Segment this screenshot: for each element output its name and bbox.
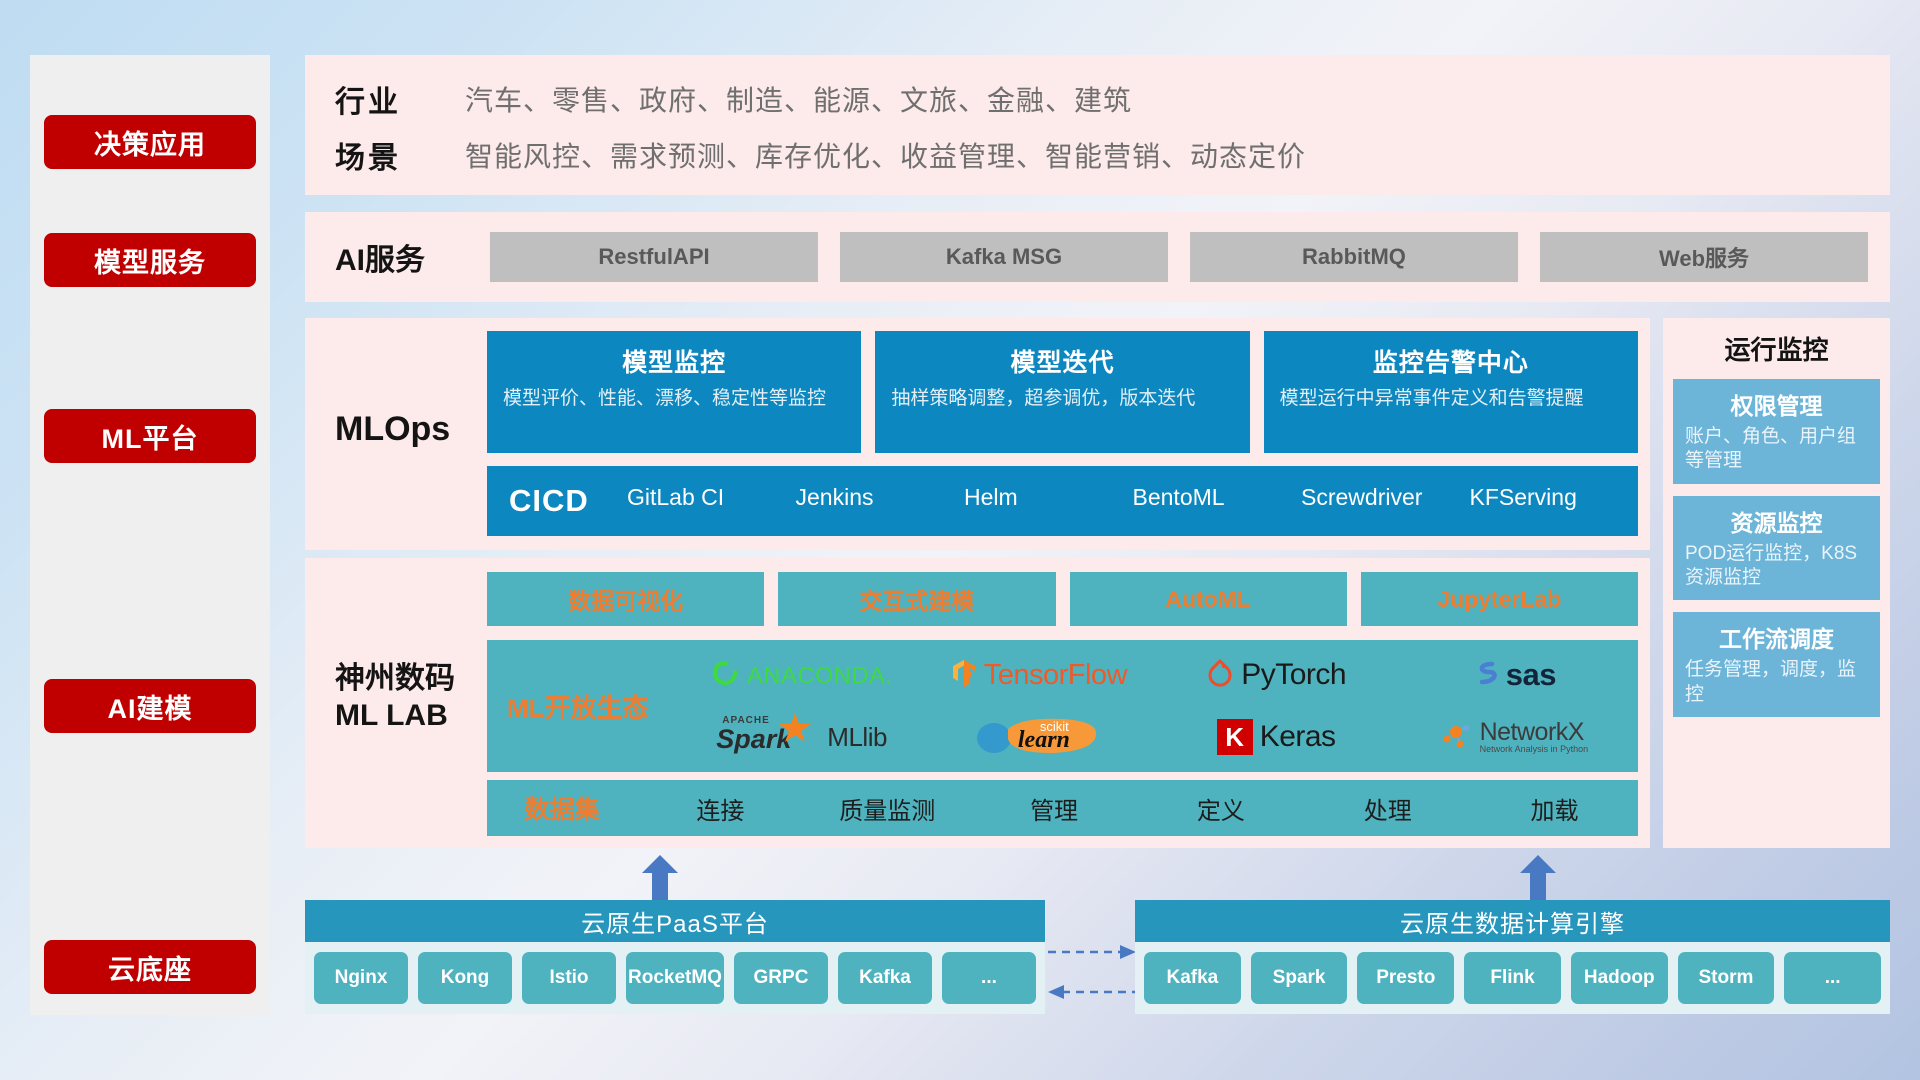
rail-item-label: 模型服务: [94, 241, 206, 280]
logo-keras-label: Keras: [1260, 720, 1336, 754]
ml-lab-label: 神州数码 ML LAB: [335, 661, 455, 734]
tool-chip-automl[interactable]: AutoML: [1070, 572, 1347, 626]
logo-sas: sas: [1471, 657, 1556, 693]
engine-chip-more[interactable]: ...: [1784, 952, 1881, 1004]
rail-item-cloud-base[interactable]: 云底座: [44, 940, 256, 994]
ml-ecosystem-box: ML开放生态 ANACONDA. TensorFlow: [487, 640, 1638, 772]
decision-apps-band: 行业 汽车、零售、政府、制造、能源、文旅、金融、建筑 场景 智能风控、需求预测、…: [305, 55, 1890, 195]
tool-chip-jupyterlab[interactable]: JupyterLab: [1361, 572, 1638, 626]
industry-row: 行业 汽车、零售、政府、制造、能源、文旅、金融、建筑: [335, 77, 1880, 121]
ai-service-chip-restfulapi[interactable]: RestfulAPI: [490, 232, 818, 282]
ai-service-chip-rabbitmq[interactable]: RabbitMQ: [1190, 232, 1518, 282]
rail-item-ml-platform[interactable]: ML平台: [44, 409, 256, 463]
cicd-item-jenkins[interactable]: Jenkins: [796, 484, 965, 518]
scenario-row: 场景 智能风控、需求预测、库存优化、收益管理、智能营销、动态定价: [335, 133, 1880, 177]
logo-pytorch: PyTorch: [1206, 658, 1346, 693]
industry-values: 汽车、零售、政府、制造、能源、文旅、金融、建筑: [465, 79, 1132, 119]
engine-chip-kafka[interactable]: Kafka: [1144, 952, 1241, 1004]
scenario-values: 智能风控、需求预测、库存优化、收益管理、智能营销、动态定价: [465, 135, 1306, 175]
cloud-engine-title: 云原生数据计算引擎: [1135, 900, 1890, 942]
cloud-engine-chip-group: Kafka Spark Presto Flink Hadoop Storm ..…: [1135, 942, 1890, 1014]
cicd-bar: CICD GitLab CI Jenkins Helm BentoML Scre…: [487, 466, 1638, 536]
scenario-label: 场景: [335, 133, 465, 177]
card-desc: 模型运行中异常事件定义和告警提醒: [1280, 387, 1622, 412]
bidirectional-link-icon: [1046, 940, 1138, 1010]
up-arrow-paas-icon: [640, 855, 680, 900]
dataset-item-process[interactable]: 处理: [1304, 791, 1471, 826]
dataset-item-group: 连接 质量监测 管理 定义 处理 加载: [637, 791, 1638, 826]
rail-item-model-service[interactable]: 模型服务: [44, 233, 256, 287]
networkx-icon: [1439, 719, 1473, 756]
ops-monitor-title: 运行监控: [1663, 318, 1890, 367]
cloud-chip-more[interactable]: ...: [942, 952, 1036, 1004]
cloud-chip-rocketmq[interactable]: RocketMQ: [626, 952, 724, 1004]
logo-pytorch-label: PyTorch: [1241, 658, 1346, 692]
ops-card-workflow-scheduling[interactable]: 工作流调度 任务管理，调度，监控: [1673, 612, 1880, 717]
engine-chip-hadoop[interactable]: Hadoop: [1571, 952, 1668, 1004]
dataset-item-manage[interactable]: 管理: [971, 791, 1138, 826]
rail-item-label: 云底座: [108, 948, 192, 987]
cicd-item-screwdriver[interactable]: Screwdriver: [1301, 484, 1470, 518]
logo-spark-mllib: APACHE Spark MLlib: [716, 716, 887, 758]
logo-learn-label: learn: [1018, 727, 1070, 754]
dataset-title: 数据集: [487, 790, 637, 826]
rail-item-label: 决策应用: [94, 123, 206, 162]
dataset-item-quality-monitor[interactable]: 质量监测: [804, 791, 971, 826]
rail-item-label: ML平台: [102, 417, 199, 456]
cloud-engine-group: 云原生数据计算引擎 Kafka Spark Presto Flink Hadoo…: [1135, 900, 1890, 1014]
card-title: 资源监控: [1685, 504, 1868, 538]
ops-card-permission-management[interactable]: 权限管理 账户、角色、用户组等管理: [1673, 379, 1880, 484]
logo-scikit-learn: scikit learn: [974, 715, 1104, 759]
logo-mllib-label: MLlib: [827, 722, 887, 753]
engine-chip-presto[interactable]: Presto: [1357, 952, 1454, 1004]
cloud-paas-chip-group: Nginx Kong Istio RocketMQ GRPC Kafka ...: [305, 942, 1045, 1014]
cicd-item-kfserving[interactable]: KFServing: [1470, 484, 1639, 518]
cicd-item-group: GitLab CI Jenkins Helm BentoML Screwdriv…: [627, 484, 1638, 518]
dataset-item-define[interactable]: 定义: [1137, 791, 1304, 826]
spark-icon: APACHE Spark: [716, 716, 820, 758]
engine-chip-storm[interactable]: Storm: [1678, 952, 1775, 1004]
dataset-bar: 数据集 连接 质量监测 管理 定义 处理 加载: [487, 780, 1638, 836]
rail-item-label: AI建模: [108, 687, 193, 726]
logo-keras: K Keras: [1217, 719, 1336, 755]
mlops-card-model-iteration[interactable]: 模型迭代 抽样策略调整，超参调优，版本迭代: [875, 331, 1249, 453]
mlops-band: MLOps 模型监控 模型评价、性能、漂移、稳定性等监控 模型迭代 抽样策略调整…: [305, 318, 1650, 550]
ml-lab-label-line1: 神州数码: [335, 661, 455, 698]
mlops-label: MLOps: [335, 410, 450, 449]
cicd-item-bentoml[interactable]: BentoML: [1133, 484, 1302, 518]
cloud-chip-kafka[interactable]: Kafka: [838, 952, 932, 1004]
mlops-card-model-monitoring[interactable]: 模型监控 模型评价、性能、漂移、稳定性等监控: [487, 331, 861, 453]
logo-networkx-label: NetworkX: [1480, 720, 1589, 745]
ops-monitor-band: 运行监控 权限管理 账户、角色、用户组等管理 资源监控 POD运行监控，K8S资…: [1663, 318, 1890, 848]
stack-layer-rail: 决策应用 模型服务 ML平台 AI建模 云底座: [30, 55, 270, 1015]
ai-service-label: AI服务: [335, 235, 490, 279]
cloud-chip-grpc[interactable]: GRPC: [734, 952, 828, 1004]
card-desc: 任务管理，调度，监控: [1685, 658, 1868, 707]
card-desc: 账户、角色、用户组等管理: [1685, 425, 1868, 474]
logo-anaconda: ANACONDA.: [710, 658, 893, 693]
anaconda-icon: [710, 658, 740, 693]
ml-lab-tool-group: 数据可视化 交互式建模 AutoML JupyterLab: [487, 572, 1638, 626]
ops-card-resource-monitoring[interactable]: 资源监控 POD运行监控，K8S资源监控: [1673, 496, 1880, 601]
rail-item-ai-modeling[interactable]: AI建模: [44, 679, 256, 733]
cloud-chip-kong[interactable]: Kong: [418, 952, 512, 1004]
tool-chip-data-visualization[interactable]: 数据可视化: [487, 572, 764, 626]
ml-ecosystem-logo-grid: ANACONDA. TensorFlow PyTorch: [677, 640, 1638, 772]
up-arrow-engine-icon: [1518, 855, 1558, 900]
engine-chip-spark[interactable]: Spark: [1251, 952, 1348, 1004]
logo-tensorflow-label: TensorFlow: [984, 659, 1127, 692]
networkx-tagline: Network Analysis in Python: [1480, 745, 1589, 754]
sas-icon: [1471, 658, 1499, 693]
ai-service-chip-kafka-msg[interactable]: Kafka MSG: [840, 232, 1168, 282]
cicd-item-gitlab-ci[interactable]: GitLab CI: [627, 484, 796, 518]
pytorch-icon: [1206, 658, 1234, 693]
card-desc: POD运行监控，K8S资源监控: [1685, 542, 1868, 591]
scikit-learn-icon: scikit learn: [974, 715, 1104, 759]
card-title: 权限管理: [1685, 387, 1868, 421]
dataset-item-load[interactable]: 加载: [1471, 791, 1638, 826]
logo-sas-label: sas: [1506, 657, 1556, 693]
tool-chip-interactive-modeling[interactable]: 交互式建模: [778, 572, 1055, 626]
keras-icon: K: [1217, 719, 1253, 755]
mlops-card-alert-center[interactable]: 监控告警中心 模型运行中异常事件定义和告警提醒: [1264, 331, 1638, 453]
ml-lab-label-line2: ML LAB: [335, 698, 455, 735]
mlops-card-group: 模型监控 模型评价、性能、漂移、稳定性等监控 模型迭代 抽样策略调整，超参调优，…: [487, 331, 1638, 453]
dataset-item-connect[interactable]: 连接: [637, 791, 804, 826]
card-title: 工作流调度: [1685, 620, 1868, 654]
engine-chip-flink[interactable]: Flink: [1464, 952, 1561, 1004]
cloud-chip-istio[interactable]: Istio: [522, 952, 616, 1004]
logo-tensorflow: TensorFlow: [951, 658, 1127, 693]
ai-service-band: AI服务 RestfulAPI Kafka MSG RabbitMQ Web服务: [305, 212, 1890, 302]
cloud-paas-group: 云原生PaaS平台 Nginx Kong Istio RocketMQ GRPC…: [305, 900, 1045, 1014]
cicd-item-helm[interactable]: Helm: [964, 484, 1133, 518]
ml-lab-band: 神州数码 ML LAB 数据可视化 交互式建模 AutoML JupyterLa…: [305, 558, 1650, 848]
card-desc: 模型评价、性能、漂移、稳定性等监控: [503, 387, 845, 412]
cloud-paas-title: 云原生PaaS平台: [305, 900, 1045, 942]
industry-label: 行业: [335, 77, 465, 121]
cicd-title: CICD: [487, 483, 627, 519]
ai-service-chip-group: RestfulAPI Kafka MSG RabbitMQ Web服务: [490, 232, 1890, 282]
ai-service-chip-web-service[interactable]: Web服务: [1540, 232, 1868, 282]
logo-anaconda-label: ANACONDA.: [747, 662, 893, 689]
card-desc: 抽样策略调整，超参调优，版本迭代: [891, 387, 1233, 412]
card-title: 监控告警中心: [1280, 343, 1622, 379]
tensorflow-icon: [951, 658, 977, 693]
ml-ecosystem-label: ML开放生态: [487, 688, 677, 725]
logo-networkx: NetworkX Network Analysis in Python: [1439, 719, 1589, 756]
cloud-chip-nginx[interactable]: Nginx: [314, 952, 408, 1004]
card-title: 模型监控: [503, 343, 845, 379]
rail-item-decision-apps[interactable]: 决策应用: [44, 115, 256, 169]
card-title: 模型迭代: [891, 343, 1233, 379]
